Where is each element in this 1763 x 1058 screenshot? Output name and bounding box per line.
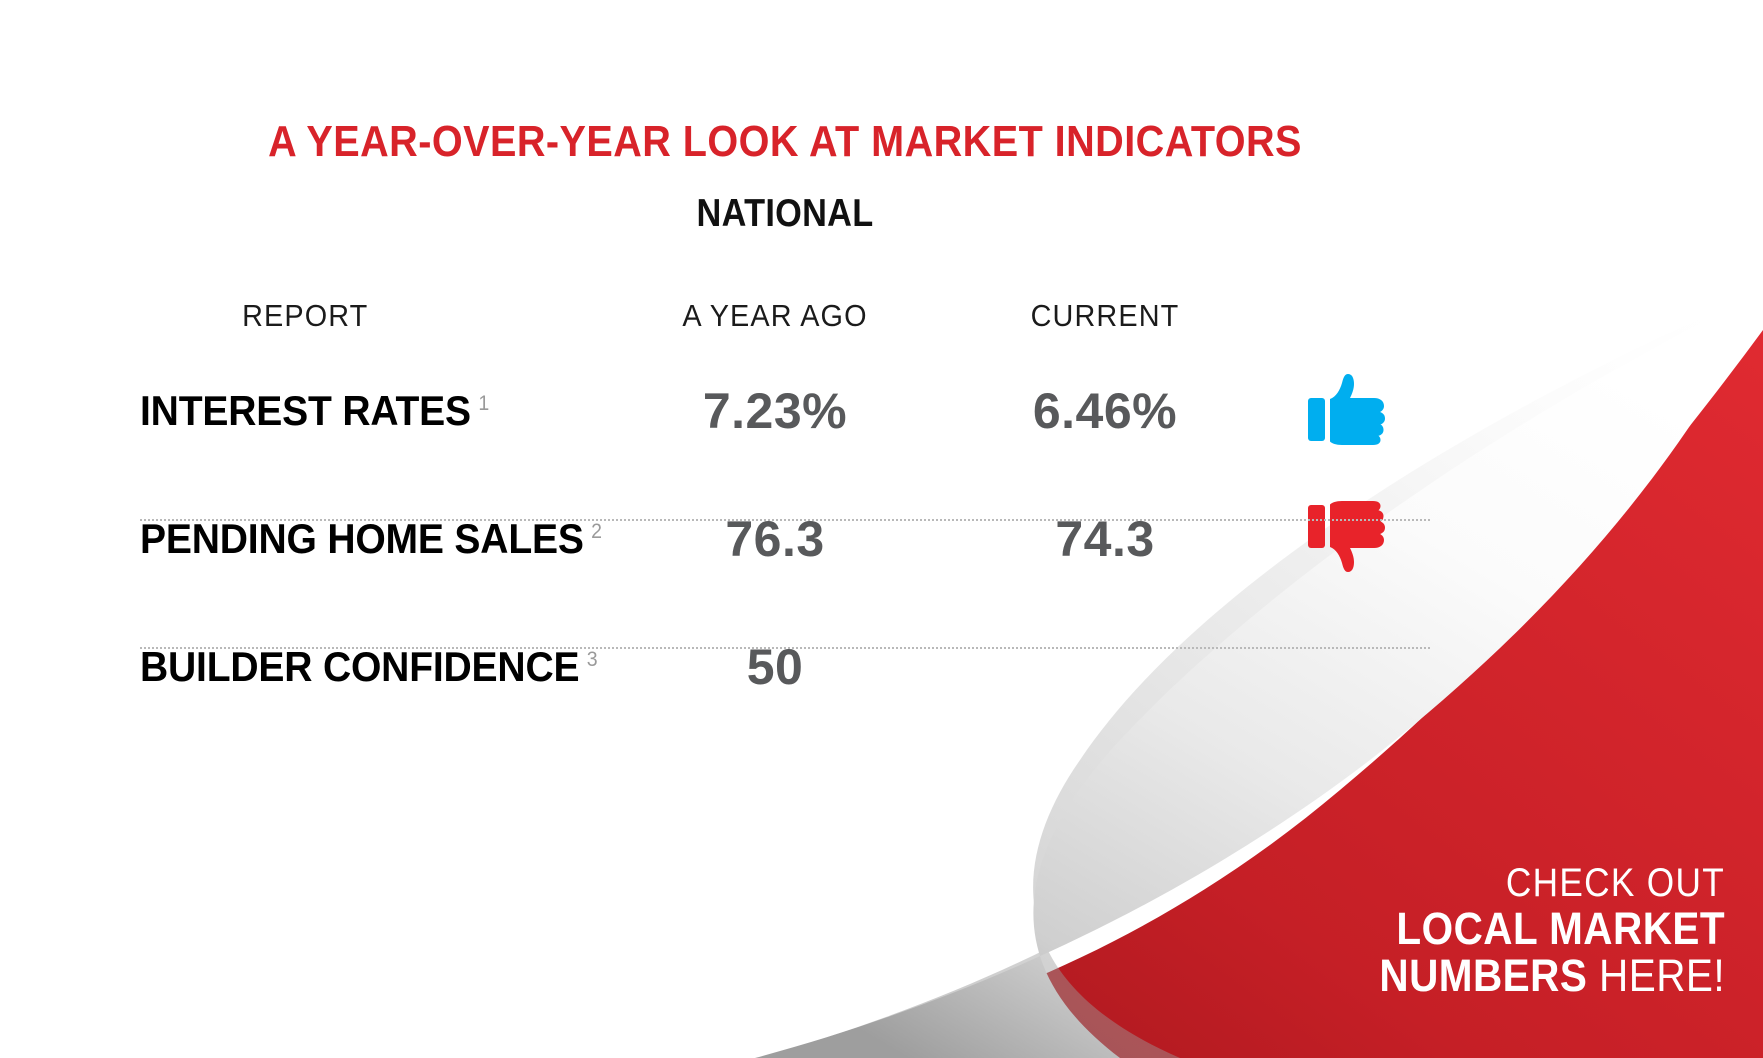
column-header-report: REPORT: [156, 298, 593, 334]
market-indicators-infographic: A YEAR-OVER-YEAR LOOK AT MARKET INDICATO…: [0, 0, 1763, 1058]
row-divider: [140, 519, 1430, 521]
column-header-a-year-ago: A YEAR AGO: [622, 298, 929, 334]
thumbs-up-icon: [1308, 372, 1392, 446]
cta-line-3: NUMBERS HERE!: [1379, 952, 1725, 1000]
cta-local-market-numbers[interactable]: CHECK OUT LOCAL MARKET NUMBERS HERE!: [1341, 862, 1725, 1000]
table-row: INTEREST RATES1 7.23% 6.46%: [140, 347, 1430, 475]
table-row: BUILDER CONFIDENCE3 50: [140, 603, 1430, 731]
value-current: 6.46%: [1033, 383, 1177, 439]
report-name: INTEREST RATES1: [140, 387, 577, 435]
footnote-marker: 1: [478, 392, 489, 415]
column-header-current: CURRENT: [952, 298, 1259, 334]
market-indicators-table: REPORT A YEAR AGO CURRENT INTEREST RATES…: [140, 285, 1430, 731]
footnote-marker: 2: [591, 520, 602, 543]
thumbs-down-icon: [1308, 500, 1392, 574]
scope-label: NATIONAL: [94, 192, 1476, 236]
report-name: BUILDER CONFIDENCE3: [140, 643, 577, 691]
footnote-marker: 3: [587, 648, 598, 671]
table-header-row: REPORT A YEAR AGO CURRENT: [140, 285, 1430, 347]
cta-line-3-bold: NUMBERS: [1379, 950, 1587, 1001]
table-row: PENDING HOME SALES2 76.3 74.3: [140, 475, 1430, 603]
cta-line-2: LOCAL MARKET: [1379, 905, 1725, 953]
cta-line-1: CHECK OUT: [1387, 862, 1725, 904]
report-name: PENDING HOME SALES2: [140, 515, 577, 563]
row-divider: [140, 647, 1430, 649]
value-a-year-ago: 7.23%: [703, 383, 847, 439]
cta-line-3-light: HERE!: [1599, 950, 1725, 1001]
page-title: A YEAR-OVER-YEAR LOOK AT MARKET INDICATO…: [79, 117, 1492, 167]
